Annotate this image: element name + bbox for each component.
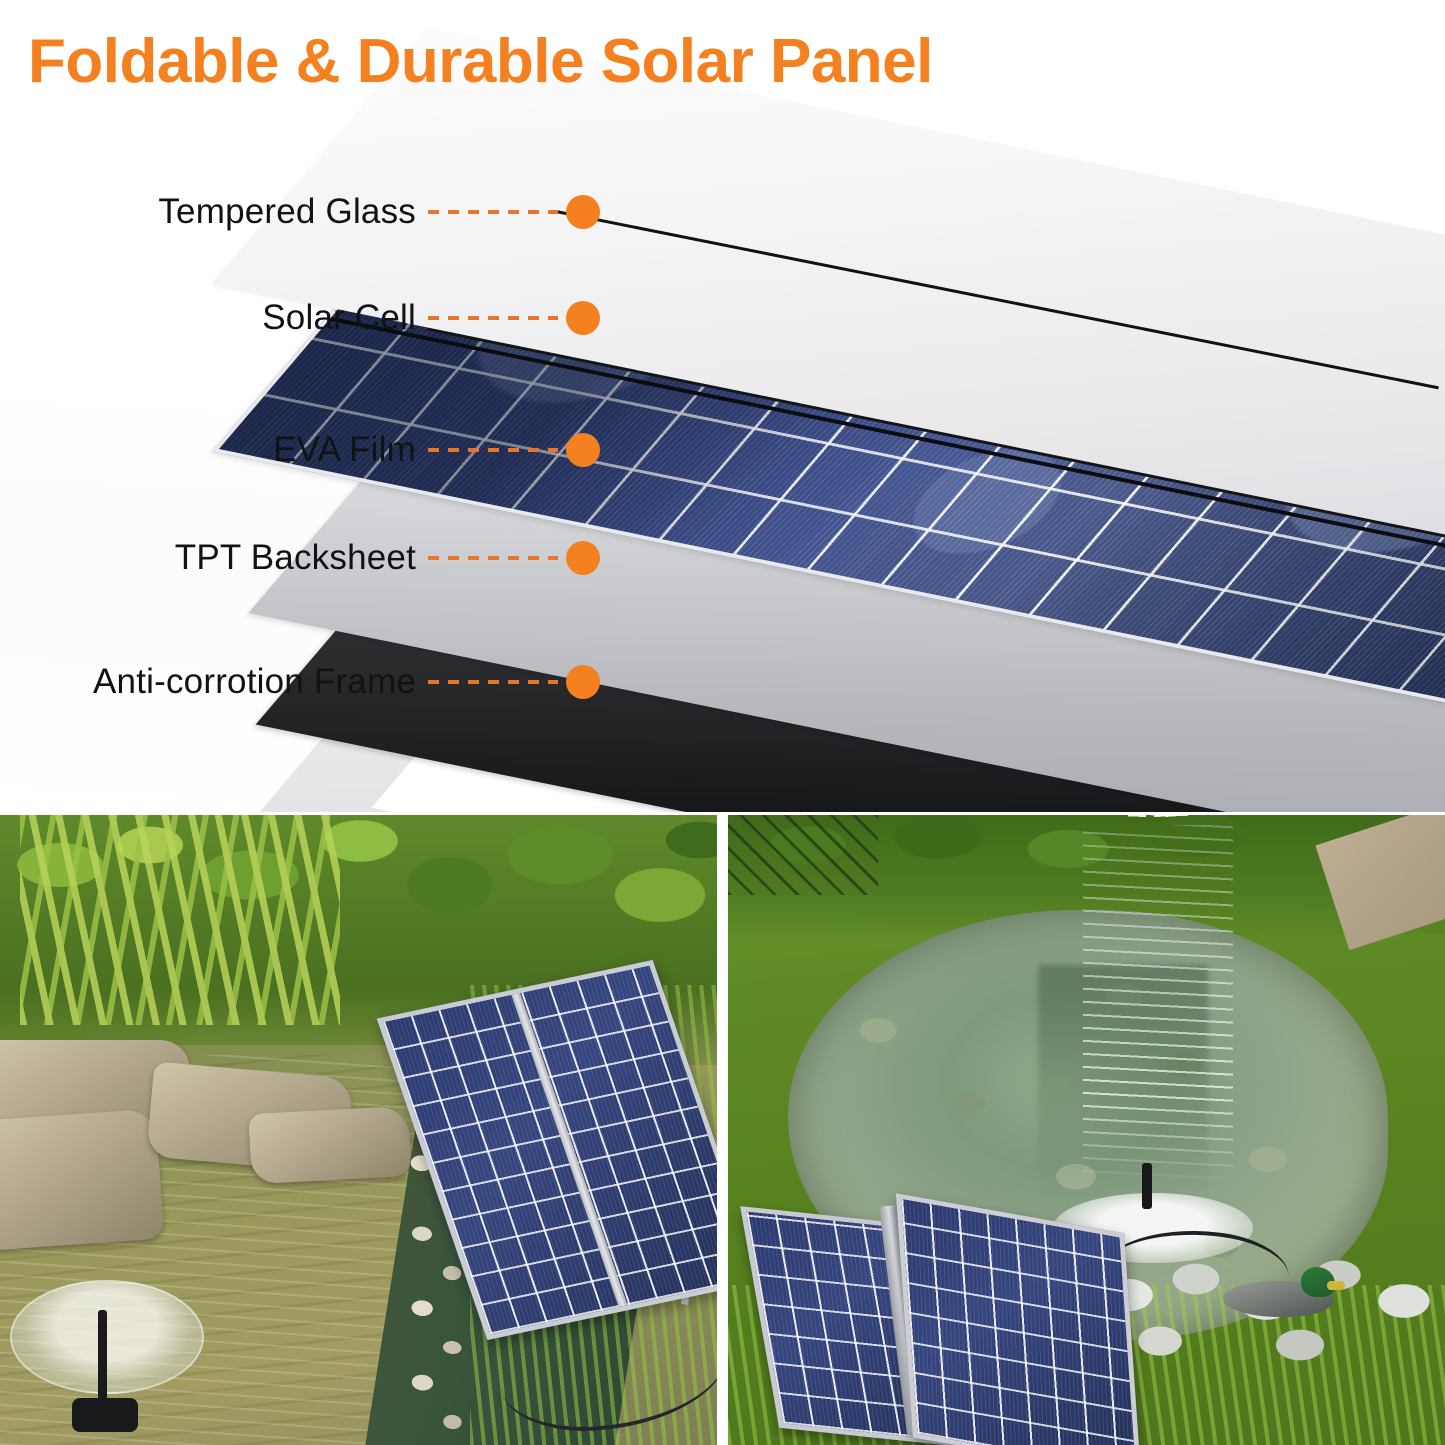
left-photo-floating-fountain	[10, 1280, 210, 1420]
right-photo-duck-beak	[1327, 1281, 1345, 1290]
callout-dot-eva-film	[566, 433, 600, 467]
right-photo-panel-cell-grid-right	[901, 1199, 1136, 1445]
callout-tempered-glass: Tempered Glass	[0, 192, 600, 232]
callout-dot-tpt-backsheet	[566, 541, 600, 575]
page-title: Foldable & Durable Solar Panel	[28, 26, 933, 97]
callout-label-anti-corrotion-frame: Anti-corrotion Frame	[93, 662, 416, 702]
product-infographic: Foldable & Durable Solar Panel Tempered …	[0, 0, 1445, 1445]
exploded-diagram-panel: Foldable & Durable Solar Panel Tempered …	[0, 0, 1445, 812]
left-photo-rock-2	[0, 1109, 164, 1252]
callout-solar-cell: Solar Cell	[0, 298, 600, 338]
callout-label-eva-film: EVA Film	[273, 430, 416, 470]
callout-dash-eva-film	[428, 448, 558, 452]
callout-dash-anti-corrotion-frame	[428, 680, 558, 684]
callout-dash-tpt-backsheet	[428, 556, 558, 560]
photo-gallery	[0, 815, 1445, 1445]
left-photo-fountain-pump	[72, 1398, 138, 1432]
photo-pond-fountain-left	[0, 815, 717, 1445]
callout-label-tempered-glass: Tempered Glass	[158, 192, 416, 232]
callout-dot-solar-cell	[566, 301, 600, 335]
right-photo-iron-bench	[728, 815, 878, 895]
left-photo-leaf-blades	[20, 815, 340, 1025]
right-photo-fountain-spray-jets	[1058, 815, 1248, 1215]
callout-eva-film: EVA Film	[0, 430, 600, 470]
callout-tpt-backsheet: TPT Backsheet	[0, 538, 600, 578]
callout-dash-tempered-glass	[428, 210, 558, 214]
callout-label-solar-cell: Solar Cell	[262, 298, 416, 338]
callout-dash-solar-cell	[428, 316, 558, 320]
photo-pebble-pond-right	[728, 815, 1445, 1445]
right-photo-solar-panel-wing-right	[896, 1193, 1141, 1445]
left-photo-fountain-spray-dome	[10, 1280, 204, 1394]
callout-anti-corrotion-frame: Anti-corrotion Frame	[0, 662, 600, 702]
right-photo-fountain-nozzle	[1142, 1163, 1152, 1209]
callout-dot-tempered-glass	[566, 195, 600, 229]
callout-dot-anti-corrotion-frame	[566, 665, 600, 699]
callout-label-tpt-backsheet: TPT Backsheet	[175, 538, 416, 578]
